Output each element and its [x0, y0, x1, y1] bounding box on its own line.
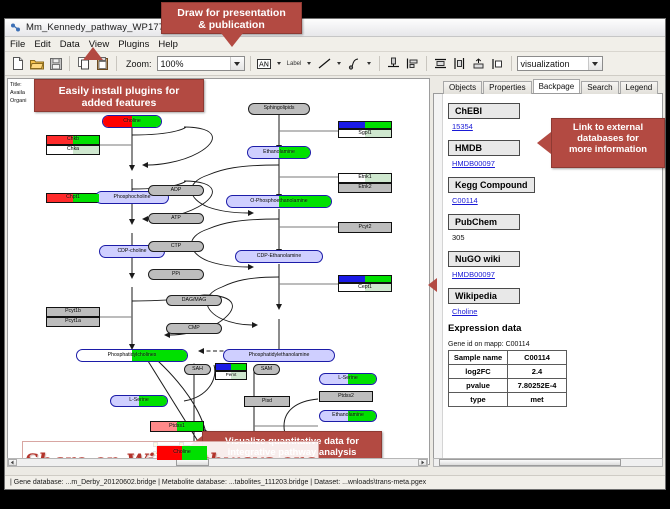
gene-box-sgpl1-top[interactable]	[338, 121, 392, 129]
gene-label-etnk1: Etnk1	[358, 175, 371, 180]
cofactor-ppi[interactable]: PPi	[148, 269, 204, 280]
gene-box-chkb[interactable]: Chkb	[46, 135, 100, 145]
gene-label-sgpl1: Sgpl1	[358, 131, 371, 136]
gene-box-chpt1[interactable]: Chpt1	[46, 193, 100, 203]
db-header-chebi: ChEBI	[448, 103, 520, 119]
label-l-serine-left: L-Serine	[129, 398, 149, 403]
metabolite-sphingolipids[interactable]: Sphingolipids	[248, 103, 310, 115]
canvas-hscrollbar[interactable]	[7, 458, 428, 467]
callout-plugins-line2: added features	[35, 97, 203, 109]
tab-properties[interactable]: Properties	[483, 81, 531, 95]
db-header-nugo-wiki: NuGO wiki	[448, 251, 520, 267]
db-link-nugo-wiki[interactable]: HMDB00097	[452, 270, 656, 279]
tab-legend[interactable]: Legend	[620, 81, 659, 95]
label-ethanolamine-bottom: Ethanolamine	[332, 413, 364, 418]
gene-label-pisd: Pisd	[262, 399, 272, 404]
db-link-wikipedia[interactable]: Choline	[452, 307, 656, 316]
metabolite-choline-selected[interactable]: Choline	[156, 445, 208, 461]
gene-label-chkb: Chkb	[67, 137, 79, 142]
expression-key-log2fc: log2FC	[449, 365, 508, 379]
label-phosphatidylethanolamine: Phosphatidylethanolamine	[249, 353, 310, 358]
label-ctp: CTP	[171, 244, 181, 249]
metabolite-phosphatidylethanolamine[interactable]: Phosphatidylethanolamine	[223, 349, 335, 362]
gene-box-pcyt1b[interactable]: Pcyt1b	[46, 307, 100, 317]
toolbar-separator-5	[426, 56, 427, 71]
cofactor-sah[interactable]: SAH	[184, 364, 211, 375]
save-icon[interactable]	[47, 55, 64, 72]
cofactor-ctp[interactable]: CTP	[148, 241, 204, 252]
distribute-horizontal-icon[interactable]	[451, 55, 468, 72]
db-header-hmdb: HMDB	[448, 140, 520, 156]
pathvisio-window: Mm_Kennedy_pathway_WP1771_45176.gpml Fil…	[4, 18, 666, 490]
cofactor-sam[interactable]: SAM	[253, 364, 280, 375]
gene-label-chpt1: Chpt1	[66, 195, 80, 200]
metabolite-cdp-ethanolamine[interactable]: CDP-Ethanolamine	[235, 250, 323, 263]
scroll-left-arrow-icon[interactable]	[8, 459, 17, 466]
panel-hscroll-thumb[interactable]	[439, 459, 621, 466]
toolbar-separator-6	[511, 56, 512, 71]
db-header-pubchem: PubChem	[448, 214, 520, 230]
toolbar-separator-3	[250, 56, 251, 71]
interaction-icon[interactable]	[346, 55, 363, 72]
label-ethanolamine-top: Ethanolamine	[263, 150, 295, 155]
side-panel-tabs[interactable]: Objects Properties Backpage Search Legen…	[433, 78, 663, 94]
align-left-icon[interactable]	[404, 55, 421, 72]
gene-label-etnk2: Etnk2	[358, 185, 371, 190]
metabolite-o-phosphoethanolamine[interactable]: O-Phosphoethanolamine	[226, 195, 332, 208]
align-bottom-icon[interactable]	[385, 55, 402, 72]
expression-key-pvalue: pvalue	[449, 379, 508, 393]
callout-link-arrow-icon	[537, 132, 551, 154]
menu-item-data[interactable]: Data	[60, 39, 80, 50]
db-value-pubchem: 305	[452, 233, 656, 242]
screenshot-root: Mm_Kennedy_pathway_WP1771_45176.gpml Fil…	[0, 0, 670, 509]
gene-box-chka[interactable]: Chka	[46, 145, 100, 155]
toolbar-separator-2	[116, 56, 117, 71]
db-header-kegg-compound: Kegg Compound	[448, 177, 535, 193]
callout-expression-arrow-icon	[428, 278, 437, 292]
menu-item-help[interactable]: Help	[158, 39, 178, 50]
label-cmp: CMP	[188, 326, 200, 331]
table-row: type met	[449, 393, 567, 407]
chevron-down-icon[interactable]	[230, 57, 244, 70]
menu-item-file[interactable]: File	[10, 39, 25, 50]
table-row: log2FC 2.4	[449, 365, 567, 379]
status-bar-text: | Gene database: ...m_Derby_20120602.bri…	[10, 479, 426, 486]
gene-box-cept1[interactable]: Cept1	[338, 283, 392, 292]
callout-draw-line2: & publication	[162, 19, 301, 31]
metabolite-ethanolamine-top[interactable]: Ethanolamine	[247, 146, 311, 159]
db-section-wikipedia: Wikipedia Choline	[448, 286, 656, 316]
gene-box-pisd[interactable]: Pisd	[244, 396, 290, 407]
label-cdp-choline: CDP-choline	[117, 249, 146, 254]
scroll-right-arrow-icon[interactable]	[418, 459, 427, 466]
gene-label-ptdss2: Ptdss2	[338, 394, 354, 399]
menu-item-edit[interactable]: Edit	[34, 39, 50, 50]
label-icon[interactable]: Label	[286, 55, 303, 72]
callout-draw-line1: Draw for presentation	[162, 7, 301, 19]
stack-icon[interactable]	[470, 55, 487, 72]
gene-box-pemt-top[interactable]	[215, 363, 247, 371]
gene-box-pemt[interactable]: Pemt	[215, 371, 247, 380]
db-section-pubchem: PubChem 305	[448, 212, 656, 242]
visualization-combo[interactable]: visualization	[517, 56, 603, 71]
label-sam: SAM	[261, 367, 272, 372]
cofactor-cmp[interactable]: CMP	[166, 323, 222, 334]
zoom-value: 100%	[158, 59, 230, 69]
label-dropdown-arrow[interactable]	[305, 55, 314, 72]
expression-key-type: type	[449, 393, 508, 407]
open-folder-icon[interactable]	[28, 55, 45, 72]
metabolite-choline-top[interactable]: Choline	[102, 115, 162, 128]
label-phosphatidylcholines: Phosphatidylcholines	[108, 353, 157, 358]
tab-search[interactable]: Search	[581, 81, 618, 95]
label-l-serine-right: L-Serine	[338, 376, 358, 381]
gene-label-pcyt1b: Pcyt1b	[65, 309, 81, 314]
gene-label-ptdss1: Ptdss1	[169, 424, 185, 429]
metabolite-l-serine-right[interactable]: L-Serine	[319, 373, 377, 385]
expression-key-sample-name: Sample name	[449, 351, 508, 365]
gene-label-cept1: Cept1	[358, 285, 372, 290]
metabolite-ethanolamine-bottom[interactable]: Ethanolamine	[319, 410, 377, 422]
cofactor-atp[interactable]: ATP	[148, 213, 204, 224]
zoom-label: Zoom:	[126, 59, 152, 69]
menu-bar[interactable]: File Edit Data View Plugins Help	[5, 37, 665, 52]
expression-value-sample-name: C00114	[508, 351, 567, 365]
expression-value-log2fc: 2.4	[508, 365, 567, 379]
label-adp: ADP	[171, 188, 182, 193]
db-link-kegg-compound[interactable]: C00114	[452, 196, 656, 205]
new-file-icon[interactable]	[9, 55, 26, 72]
datanode-icon[interactable]: AN	[256, 55, 273, 72]
label-o-phosphoethanolamine: O-Phosphoethanolamine	[250, 199, 307, 204]
gene-label-pemt: Pemt	[226, 373, 237, 378]
app-icon	[10, 22, 21, 33]
canvas-hscroll-thumb[interactable]	[176, 459, 210, 466]
expression-table: Sample name C00114 log2FC 2.4 pvalue 7.8…	[448, 350, 567, 407]
expression-data-heading: Expression data	[448, 323, 656, 334]
db-section-nugo: NuGO wiki HMDB00097	[448, 249, 656, 279]
callout-draw: Draw for presentation & publication	[161, 2, 302, 34]
label-phosphocholine: Phosphocholine	[114, 195, 151, 200]
callout-plugins-arrow-icon	[83, 47, 103, 60]
gene-box-etnk1[interactable]: Etnk1	[338, 173, 392, 183]
gene-box-ptdss2[interactable]: Ptdss2	[319, 391, 373, 402]
status-bar: | Gene database: ...m_Derby_20120602.bri…	[5, 475, 665, 489]
expression-value-type: met	[508, 393, 567, 407]
gene-label-chka: Chka	[67, 147, 79, 152]
label-choline-selected: Choline	[173, 450, 191, 455]
distribute-vertical-icon[interactable]	[432, 55, 449, 72]
label-cdp-ethanolamine: CDP-Ethanolamine	[257, 254, 301, 259]
gene-box-pcyt1a[interactable]: Pcyt1a	[46, 317, 100, 327]
table-row: Sample name C00114	[449, 351, 567, 365]
label-atp: ATP	[171, 216, 181, 221]
tab-objects[interactable]: Objects	[443, 81, 482, 95]
line-icon[interactable]	[316, 55, 333, 72]
gene-id-line: Gene id on mapp: C00114	[448, 341, 656, 348]
db-section-kegg: Kegg Compound C00114	[448, 175, 656, 205]
gene-label-pcyt1a: Pcyt1a	[65, 319, 81, 324]
datanode-dropdown-arrow[interactable]	[275, 55, 284, 72]
interaction-dropdown-arrow[interactable]	[365, 55, 374, 72]
label-dagmag: DAG/MAG	[182, 298, 207, 303]
cofactor-adp[interactable]: ADP	[148, 185, 204, 196]
title-bar: Mm_Kennedy_pathway_WP1771_45176.gpml	[5, 19, 665, 37]
label-icon-text: Label	[287, 61, 302, 67]
callout-link-line3: more information	[552, 145, 664, 156]
label-sphingolipids: Sphingolipids	[264, 106, 295, 111]
metabolite-phosphatidylcholines[interactable]: Phosphatidylcholines	[76, 349, 188, 362]
callout-plugins: Easily install plugins for added feature…	[34, 79, 204, 112]
label-choline-top: Choline	[123, 119, 141, 124]
visualization-value: visualization	[518, 59, 588, 69]
chevron-down-icon-2[interactable]	[588, 57, 602, 70]
callout-plugins-line1: Easily install plugins for	[35, 85, 203, 97]
pathway-canvas[interactable]: Title: Availa Organi	[7, 78, 430, 465]
db-header-wikipedia: Wikipedia	[448, 288, 520, 304]
gene-box-ptdss1[interactable]: Ptdss1	[150, 421, 204, 432]
expression-value-pvalue: 7.80252E-4	[508, 379, 567, 393]
line-dropdown-arrow[interactable]	[335, 55, 344, 72]
callout-draw-arrow-icon	[221, 33, 243, 47]
label-ppi: PPi	[172, 272, 180, 277]
menu-item-plugins[interactable]: Plugins	[118, 39, 149, 50]
gene-box-cept1-top[interactable]	[338, 275, 392, 283]
toolbar-separator-1	[69, 56, 70, 71]
gene-box-etnk2[interactable]: Etnk2	[338, 183, 392, 193]
toolbar-separator-4	[379, 56, 380, 71]
order-icon[interactable]	[489, 55, 506, 72]
gene-box-pcyt2[interactable]: Pcyt2	[338, 222, 392, 233]
metabolite-l-serine-left[interactable]: L-Serine	[110, 395, 168, 407]
gene-label-pcyt2: Pcyt2	[359, 225, 372, 230]
toolbar[interactable]: Zoom: 100% AN Label	[5, 52, 665, 76]
gene-box-sgpl1[interactable]: Sgpl1	[338, 129, 392, 138]
zoom-combo[interactable]: 100%	[157, 56, 245, 71]
table-row: pvalue 7.80252E-4	[449, 379, 567, 393]
tab-backpage[interactable]: Backpage	[533, 79, 581, 94]
panel-hscrollbar[interactable]	[433, 458, 663, 467]
cofactor-dagmag[interactable]: DAG/MAG	[166, 295, 222, 306]
label-sah: SAH	[192, 367, 203, 372]
svg-text:AN: AN	[259, 60, 269, 68]
callout-link: Link to external databases for more info…	[551, 118, 665, 168]
